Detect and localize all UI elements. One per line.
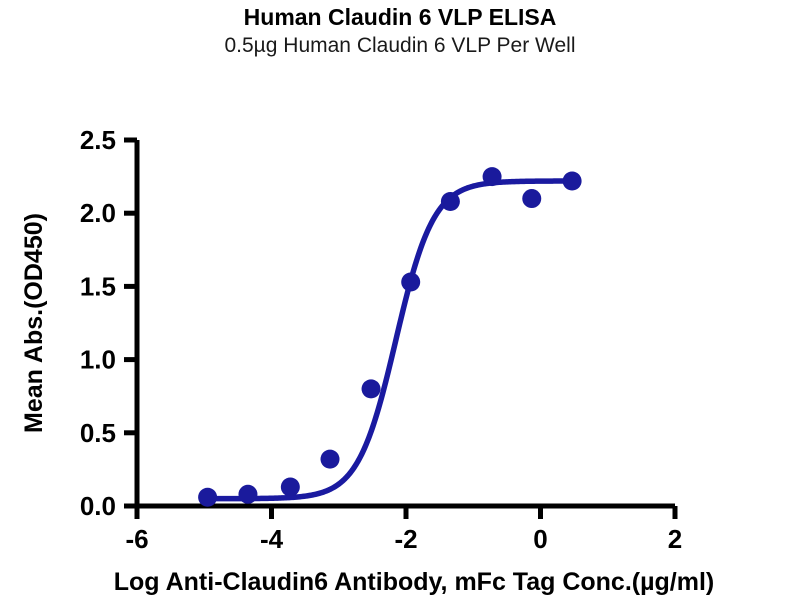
data-points [198, 167, 582, 507]
scatter-plot: -6-4-2020.00.51.01.52.02.5Mean Abs.(OD45… [0, 0, 800, 600]
x-tick-label: -6 [125, 524, 148, 554]
data-point-marker [483, 167, 502, 186]
y-tick-label: 0.5 [80, 418, 116, 448]
data-point-marker [321, 450, 340, 469]
x-tick-label: 2 [668, 524, 682, 554]
data-point-marker [281, 477, 300, 496]
y-tick-label: 1.0 [80, 345, 116, 375]
data-point-marker [441, 192, 460, 211]
data-point-marker [401, 273, 420, 292]
x-tick-label: -4 [260, 524, 284, 554]
x-axis-title: Log Anti-Claudin6 Antibody, mFc Tag Conc… [114, 568, 714, 596]
x-tick-label: -2 [394, 524, 417, 554]
y-axis-title: Mean Abs.(OD450) [20, 213, 48, 433]
y-tick-label: 2.0 [80, 198, 116, 228]
data-point-marker [362, 379, 381, 398]
data-point-marker [238, 485, 257, 504]
x-tick-label: 0 [533, 524, 547, 554]
sigmoid-fit-line [208, 181, 573, 499]
data-point-marker [563, 171, 582, 190]
y-tick-label: 2.5 [80, 125, 116, 155]
chart-figure: Human Claudin 6 VLP ELISA 0.5µg Human Cl… [0, 0, 800, 600]
data-point-marker [522, 189, 541, 208]
data-point-marker [198, 488, 217, 507]
y-tick-label: 0.0 [80, 491, 116, 521]
fit-curve [208, 181, 573, 499]
y-tick-label: 1.5 [80, 271, 116, 301]
